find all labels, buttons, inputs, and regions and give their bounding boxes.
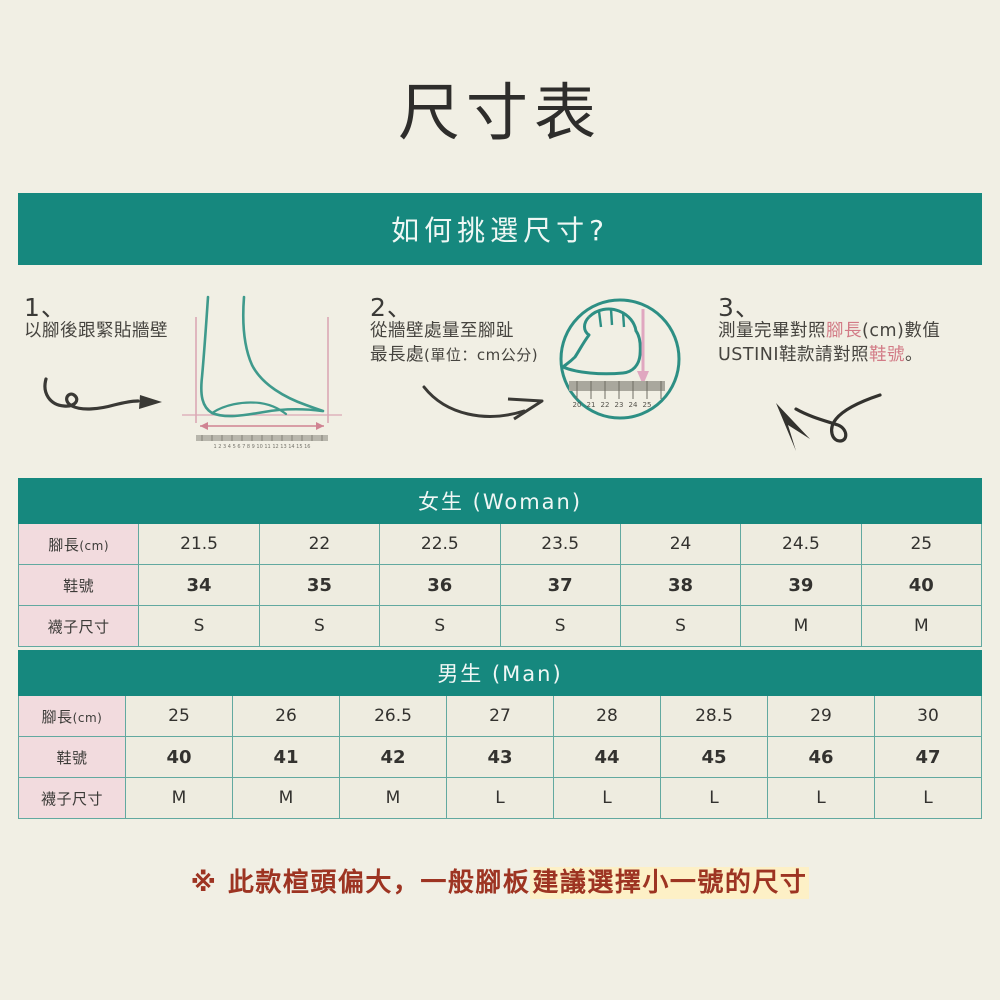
table-cell: 28.5 xyxy=(661,696,768,737)
table-cell: L xyxy=(447,778,554,819)
woman-size-table-wrap: 女生 (Woman)腳長(cm)21.52222.523.52424.525鞋號… xyxy=(18,478,982,647)
table-cell: S xyxy=(259,606,379,647)
table-cell: 29 xyxy=(768,696,875,737)
row-label: 襪子尺寸 xyxy=(19,778,126,819)
table-row: 腳長(cm)21.52222.523.52424.525 xyxy=(19,524,982,565)
table-cell: 37 xyxy=(500,565,620,606)
table-cell: 46 xyxy=(768,737,875,778)
table-cell: M xyxy=(861,606,981,647)
table-cell: 21.5 xyxy=(139,524,259,565)
step-2-unit-note: (單位：cm公分) xyxy=(424,346,538,364)
table-cell: M xyxy=(741,606,861,647)
row-label: 鞋號 xyxy=(19,565,139,606)
table-cell: 42 xyxy=(340,737,447,778)
table-cell: 24.5 xyxy=(741,524,861,565)
row-label: 鞋號 xyxy=(19,737,126,778)
steps-section: 1、 以腳後跟緊貼牆壁 xyxy=(0,295,1000,465)
table-cell: 26 xyxy=(233,696,340,737)
footnote-text: 此款楦頭偏大，一般腳板 xyxy=(228,868,531,898)
table-cell: S xyxy=(500,606,620,647)
table-cell: L xyxy=(768,778,875,819)
table-cell: L xyxy=(661,778,768,819)
step-3-number: 3、 xyxy=(718,295,988,320)
how-to-choose-banner: 如何挑選尺寸? xyxy=(18,193,982,265)
step-2-text-line1: 從牆壁處量至腳趾 xyxy=(370,320,555,344)
step-3-text-line2: USTINI鞋款請對照鞋號。 xyxy=(718,344,988,368)
footnote: ※ 此款楦頭偏大，一般腳板建議選擇小一號的尺寸 xyxy=(0,862,1000,899)
ruler-tick-label: 22 xyxy=(601,401,610,409)
footnote-highlight: 建議選擇小一號的尺寸 xyxy=(530,867,809,899)
ruler-tick-label: 20 xyxy=(573,401,582,409)
step-3-line1-before: 測量完畢對照 xyxy=(718,321,826,341)
row-label-unit: (cm) xyxy=(73,711,103,725)
table-cell: L xyxy=(554,778,661,819)
row-label-unit: (cm) xyxy=(79,539,109,553)
table-row: 襪子尺寸SSSSSMM xyxy=(19,606,982,647)
table-cell: 40 xyxy=(126,737,233,778)
curly-arrow-icon xyxy=(40,373,200,427)
table-row: 鞋號34353637383940 xyxy=(19,565,982,606)
table-cell: M xyxy=(126,778,233,819)
table-row: 鞋號4041424344454647 xyxy=(19,737,982,778)
toe-measure-illustration: 202122232425 xyxy=(545,295,695,434)
step-3-line1-after: (cm)數值 xyxy=(862,321,940,341)
woman-table-body: 女生 (Woman)腳長(cm)21.52222.523.52424.525鞋號… xyxy=(19,479,982,647)
step-3-foot-length-term: 腳長 xyxy=(826,321,862,341)
ruler-tick-label: 25 xyxy=(643,401,652,409)
table-cell: 22 xyxy=(259,524,379,565)
curved-arrow-icon xyxy=(420,375,560,429)
table-cell: 43 xyxy=(447,737,554,778)
table-cell: 45 xyxy=(661,737,768,778)
table-cell: L xyxy=(875,778,982,819)
step-3: 3、 測量完畢對照腳長(cm)數值 USTINI鞋款請對照鞋號。 xyxy=(718,295,988,367)
table-cell: 25 xyxy=(126,696,233,737)
footnote-mark: ※ xyxy=(191,868,218,898)
table-cell: 28 xyxy=(554,696,661,737)
woman-size-table: 女生 (Woman)腳長(cm)21.52222.523.52424.525鞋號… xyxy=(18,478,982,647)
table-row: 襪子尺寸MMMLLLLL xyxy=(19,778,982,819)
table-caption-row: 女生 (Woman) xyxy=(19,479,982,524)
size-chart-page: 尺寸表 如何挑選尺寸? 1、 以腳後跟緊貼牆壁 xyxy=(0,0,1000,1000)
table-cell: 35 xyxy=(259,565,379,606)
table-cell: 47 xyxy=(875,737,982,778)
step-2-line2-main: 最長處 xyxy=(370,345,424,365)
table-cell: 38 xyxy=(620,565,740,606)
table-cell: M xyxy=(233,778,340,819)
table-cell: 26.5 xyxy=(340,696,447,737)
man-table-body: 男生 (Man)腳長(cm)252626.5272828.52930鞋號4041… xyxy=(19,651,982,819)
row-label: 襪子尺寸 xyxy=(19,606,139,647)
ruler-tick-label: 21 xyxy=(587,401,596,409)
loop-arrow-icon xyxy=(762,387,892,471)
row-label: 腳長(cm) xyxy=(19,696,126,737)
man-size-table-wrap: 男生 (Man)腳長(cm)252626.5272828.52930鞋號4041… xyxy=(18,650,982,819)
step-3-shoe-size-term: 鞋號 xyxy=(869,345,905,365)
table-cell: S xyxy=(139,606,259,647)
table-row: 腳長(cm)252626.5272828.52930 xyxy=(19,696,982,737)
table-cell: 40 xyxy=(861,565,981,606)
table-cell: 27 xyxy=(447,696,554,737)
table-cell: 25 xyxy=(861,524,981,565)
page-title: 尺寸表 xyxy=(0,62,1000,152)
ruler-tick-label: 23 xyxy=(615,401,624,409)
step-2-number: 2、 xyxy=(370,295,555,320)
step-2: 2、 從牆壁處量至腳趾 最長處(單位：cm公分) xyxy=(370,295,555,367)
table-cell: 24 xyxy=(620,524,740,565)
table-cell: 36 xyxy=(380,565,500,606)
table-caption: 男生 (Man) xyxy=(19,651,982,696)
table-cell: 22.5 xyxy=(380,524,500,565)
table-caption-row: 男生 (Man) xyxy=(19,651,982,696)
table-cell: 23.5 xyxy=(500,524,620,565)
table-cell: 41 xyxy=(233,737,340,778)
row-label: 腳長(cm) xyxy=(19,524,139,565)
svg-text:1 2 3 4 5 6 7 8 9 10 11 12 13: 1 2 3 4 5 6 7 8 9 10 11 12 13 14 15 16 xyxy=(213,444,310,450)
step-3-line2-before: USTINI鞋款請對照 xyxy=(718,345,869,365)
table-cell: S xyxy=(620,606,740,647)
table-cell: 30 xyxy=(875,696,982,737)
step-2-text-line2: 最長處(單位：cm公分) xyxy=(370,344,555,368)
step-3-line2-after: 。 xyxy=(905,345,923,365)
ruler-tick-label: 24 xyxy=(629,401,638,409)
step-3-text-line1: 測量完畢對照腳長(cm)數值 xyxy=(718,320,988,344)
table-cell: 34 xyxy=(139,565,259,606)
table-cell: 44 xyxy=(554,737,661,778)
man-size-table: 男生 (Man)腳長(cm)252626.5272828.52930鞋號4041… xyxy=(18,650,982,819)
table-caption: 女生 (Woman) xyxy=(19,479,982,524)
table-cell: S xyxy=(380,606,500,647)
foot-profile-illustration: 1 2 3 4 5 6 7 8 9 10 11 12 13 14 15 16 xyxy=(182,295,342,454)
banner-label: 如何挑選尺寸? xyxy=(391,209,609,249)
table-cell: 39 xyxy=(741,565,861,606)
table-cell: M xyxy=(340,778,447,819)
